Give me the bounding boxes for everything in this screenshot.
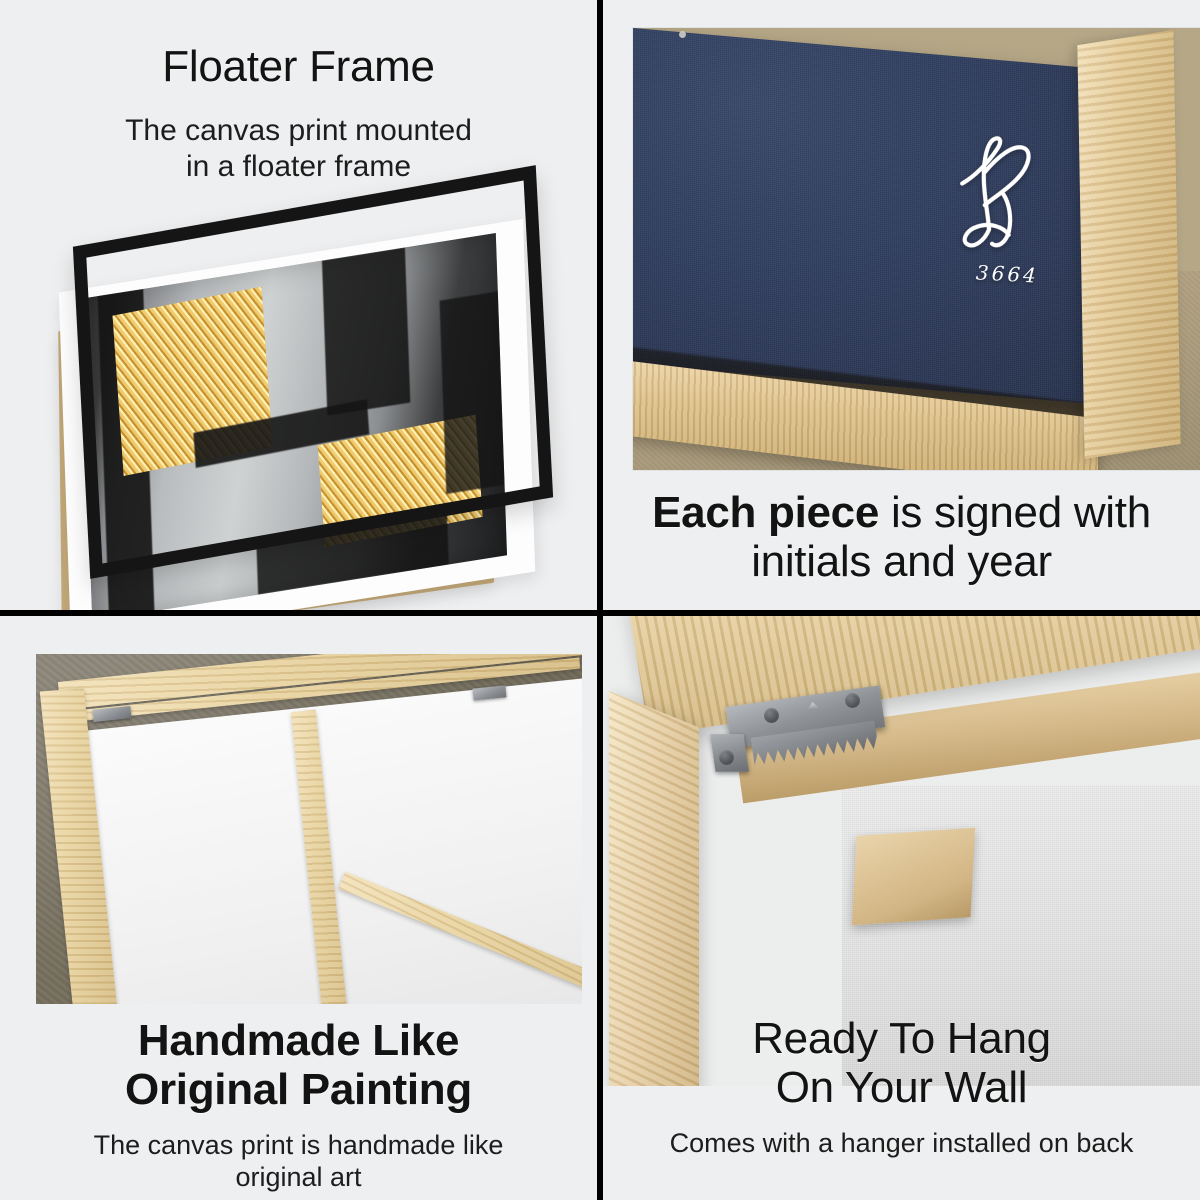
floater-frame-headline: Floater Frame [0,42,597,91]
signed-piece-headline: Each piece is signed with [603,488,1200,537]
screw-icon [719,750,734,765]
floater-frame-subtext: The canvas print mounted in a floater fr… [0,113,597,185]
stretcher-bars-photo [36,654,582,1004]
panel-floater-frame: Floater Frame The canvas print mounted i… [0,0,597,610]
handmade-subtext: The canvas print is handmade like origin… [0,1129,597,1194]
screw-icon [764,708,779,723]
signed-piece-caption: Each piece is signed with initials and y… [603,488,1200,587]
floater-frame-exploded-image [0,185,597,610]
panel-handmade: Handmade Like Original Painting The canv… [0,616,597,1200]
ready-to-hang-headline-line2: On Your Wall [603,1063,1200,1112]
panel-ready-to-hang: Ready To Hang On Your Wall Comes with a … [603,616,1200,1200]
ready-to-hang-caption: Ready To Hang On Your Wall Comes with a … [603,1014,1200,1159]
handmade-headline-line2: Original Painting [0,1065,597,1114]
handmade-subtext-line1: The canvas print is handmade like [0,1129,597,1161]
screw-icon [845,693,860,708]
light-speck [679,31,686,38]
panel-signed-piece: 3664 Each piece is signed with initials … [603,0,1200,610]
navy-canvas-face [633,28,1121,407]
artist-signature-icon [946,131,1047,272]
floater-frame-subtext-line2: in a floater frame [0,149,597,185]
product-feature-infographic: Floater Frame The canvas print mounted i… [0,0,1200,1200]
floater-frame-subtext-line1: The canvas print mounted [0,113,597,149]
ready-to-hang-headline-line1: Ready To Hang [603,1014,1200,1063]
handmade-subtext-line2: original art [0,1161,597,1193]
ready-to-hang-subtext: Comes with a hanger installed on back [603,1127,1200,1159]
signed-piece-headline-bold: Each piece [652,488,879,537]
stretcher-wedge [852,828,976,926]
signed-piece-headline-line2: initials and year [603,537,1200,586]
signed-piece-headline-rest: is signed with [879,488,1151,537]
signature-year: 3664 [975,261,1039,288]
handmade-caption: Handmade Like Original Painting The canv… [0,1016,597,1193]
floater-frame-caption: Floater Frame The canvas print mounted i… [0,42,597,185]
grid-divider-horizontal [0,610,1200,616]
signed-canvas-photo: 3664 [633,28,1200,470]
wood-frame-right-rail [1077,30,1181,460]
grid-divider-vertical [597,0,603,1200]
handmade-headline-line1: Handmade Like [0,1016,597,1065]
